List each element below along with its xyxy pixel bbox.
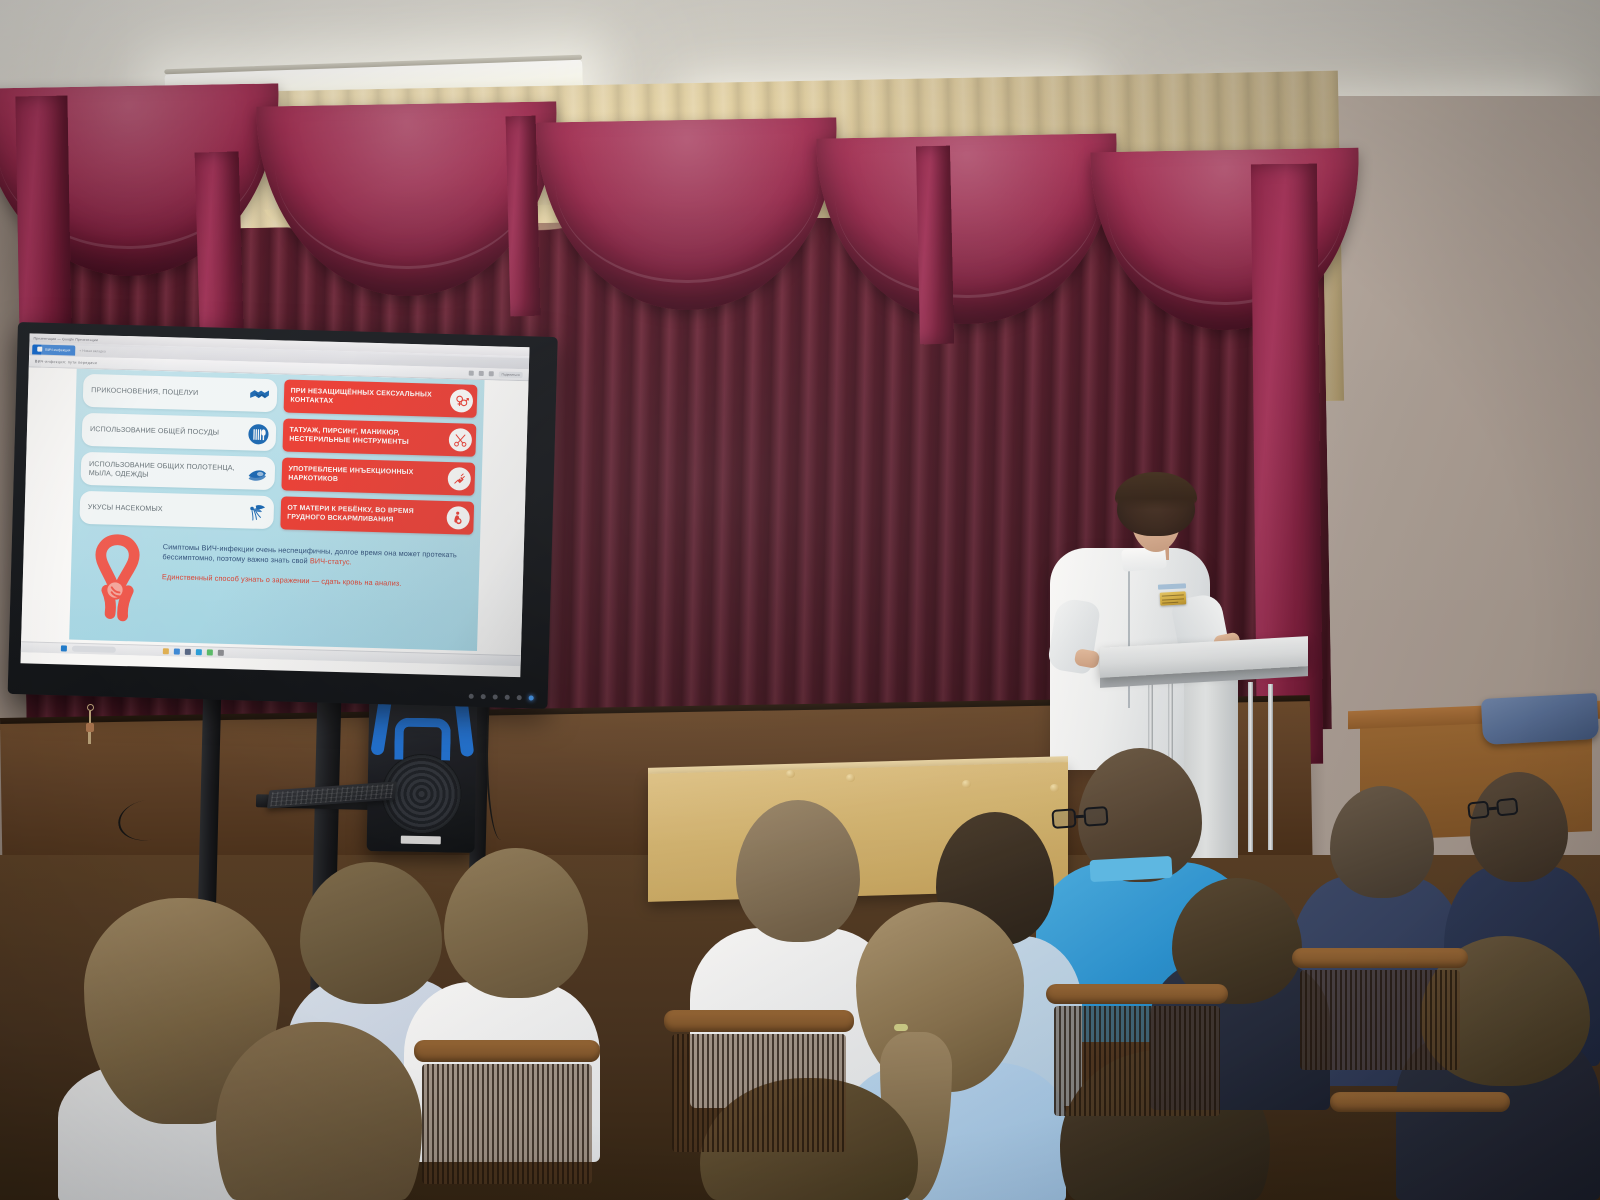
taskbar-search-box[interactable] xyxy=(72,646,116,653)
chair-backrest xyxy=(1046,984,1228,1004)
safe-card-insects-label: УКУСЫ НАСЕКОМЫХ xyxy=(88,503,163,514)
eyeglasses xyxy=(1051,806,1108,830)
risk-card-drugs-label: УПОТРЕБЛЕНИЕ ИНЪЕКЦИОННЫХ НАРКОТИКОВ xyxy=(288,465,444,487)
tv-led-2 xyxy=(481,694,486,699)
auditorium-scene: Презентация — Google Презентации ВИЧ-инф… xyxy=(0,0,1600,1200)
chair-backrest xyxy=(1292,948,1468,968)
safe-card-touch-label: ПРИКОСНОВЕНИЯ, ПОЦЕЛУИ xyxy=(91,386,198,398)
tv-led-5 xyxy=(517,695,522,700)
handshake-icon xyxy=(247,383,271,407)
gender-symbols-icon xyxy=(450,389,474,413)
safe-card-dishes-label: ИСПОЛЬЗОВАНИЕ ОБЩЕЙ ПОСУДЫ xyxy=(90,425,219,437)
safe-card-insects: УКУСЫ НАСЕКОМЫХ xyxy=(79,491,273,529)
tab-label: ВИЧ-инфекция xyxy=(45,347,70,352)
chair-mesh-panel xyxy=(1054,1006,1220,1116)
slide-content: ПРИКОСНОВЕНИЯ, ПОЦЕЛУИ ИСПОЛЬЗОВАНИЕ ОБ xyxy=(69,369,484,651)
safe-card-dishes: ИСПОЛЬЗОВАНИЕ ОБЩЕЙ ПОСУДЫ xyxy=(82,413,276,451)
chair-backrest xyxy=(664,1010,854,1032)
risk-column: ПРИ НЕЗАЩИЩЁННЫХ СЕКСУАЛЬНЫХ КОНТАКТАХ xyxy=(280,379,478,534)
footer-paragraph-1: Симптомы ВИЧ-инфекции очень неспецифичны… xyxy=(162,542,472,571)
audience-chair-2[interactable] xyxy=(664,1010,854,1160)
cabinet-knob-4 xyxy=(1050,784,1059,792)
mail-icon[interactable] xyxy=(174,648,180,654)
footer-highlight: ВИЧ-статус. xyxy=(310,557,352,567)
safe-card-towels: ИСПОЛЬЗОВАНИЕ ОБЩИХ ПОЛОТЕНЦА, МЫЛА, ОДЕ… xyxy=(80,452,274,490)
browser-title-text: Презентация — Google Презентации xyxy=(34,336,99,342)
chrome-icon[interactable] xyxy=(207,649,213,655)
risk-card-mother-child: ОТ МАТЕРИ К РЕБЁНКУ, ВО ВРЕМЯ ГРУДНОГО В… xyxy=(280,496,474,534)
slide-footer: Симптомы ВИЧ-инфекции очень неспецифичны… xyxy=(77,524,474,638)
lectern-leg-3 xyxy=(1248,682,1253,852)
risk-card-drugs: УПОТРЕБЛЕНИЕ ИНЪЕКЦИОННЫХ НАРКОТИКОВ xyxy=(281,457,475,495)
footer-paragraph-2: Единственный способ узнать о заражении —… xyxy=(162,572,472,591)
mosquito-icon xyxy=(244,500,268,524)
curtain-drape-mid-2 xyxy=(506,116,541,317)
share-button[interactable]: Поделиться xyxy=(498,371,522,378)
risk-card-sex: ПРИ НЕЗАЩИЩЁННЫХ СЕКСУАЛЬНЫХ КОНТАКТАХ xyxy=(283,379,477,417)
footer-text-block: Симптомы ВИЧ-инфекции очень неспецифичны… xyxy=(162,535,473,591)
audience-chair-4[interactable] xyxy=(1292,948,1468,1078)
chair-mesh-panel xyxy=(672,1034,846,1152)
hanging-decoration xyxy=(84,704,96,748)
windows-start-icon[interactable] xyxy=(61,645,67,651)
present-icon[interactable] xyxy=(488,371,493,376)
pregnant-woman-icon xyxy=(446,506,470,530)
lectern-leg-4 xyxy=(1268,684,1273,850)
risk-card-piercing-label: ТАТУАЖ, ПИРСИНГ, МАНИКЮР, НЕСТЕРИЛЬНЫЕ И… xyxy=(289,426,445,448)
hair-tie xyxy=(894,1024,908,1031)
scissors-icon xyxy=(449,428,473,452)
polo-collar xyxy=(1089,856,1172,882)
tab-favicon-icon xyxy=(37,347,42,352)
presenter-name-badge xyxy=(1160,591,1187,605)
curtain-drape-mid-3 xyxy=(916,146,954,345)
cutlery-icon xyxy=(246,422,270,446)
draped-jacket xyxy=(1481,693,1599,745)
audience-chair-1[interactable] xyxy=(414,1040,600,1190)
audience-chair-5[interactable] xyxy=(1330,1092,1510,1200)
tv-screen[interactable]: Презентация — Google Презентации ВИЧ-инф… xyxy=(20,333,529,677)
tv-led-3 xyxy=(493,694,498,699)
presentation-slide: ПРИКОСНОВЕНИЯ, ПОЦЕЛУИ ИСПОЛЬЗОВАНИЕ ОБ xyxy=(21,367,529,666)
risk-card-sex-label: ПРИ НЕЗАЩИЩЁННЫХ СЕКСУАЛЬНЫХ КОНТАКТАХ xyxy=(290,387,446,409)
media-icon[interactable] xyxy=(218,650,224,656)
audience-chair-3[interactable] xyxy=(1046,984,1228,1124)
safe-card-touch: ПРИКОСНОВЕНИЯ, ПОЦЕЛУИ xyxy=(83,374,277,412)
red-awareness-ribbon-icon xyxy=(77,533,158,629)
comment-icon[interactable] xyxy=(478,371,483,376)
chair-mesh-panel xyxy=(1300,970,1460,1070)
tv-led-4 xyxy=(505,694,510,699)
speaker-brand-plate xyxy=(401,836,441,845)
syringe-icon xyxy=(447,467,471,491)
tv-led-1 xyxy=(469,693,474,698)
transmission-cards-grid: ПРИКОСНОВЕНИЯ, ПОЦЕЛУИ ИСПОЛЬЗОВАНИЕ ОБ xyxy=(79,372,477,535)
edge-icon[interactable] xyxy=(196,649,202,655)
chair-backrest xyxy=(1330,1092,1510,1112)
store-icon[interactable] xyxy=(185,649,191,655)
chair-mesh-panel xyxy=(422,1064,592,1184)
chair-backrest xyxy=(414,1040,600,1062)
new-tab-button[interactable]: + Новая вкладка xyxy=(79,348,105,353)
pa-speaker xyxy=(367,689,478,853)
cabinet-knob-2 xyxy=(846,774,855,782)
risk-card-piercing: ТАТУАЖ, ПИРСИНГ, МАНИКЮР, НЕСТЕРИЛЬНЫЕ И… xyxy=(282,418,476,456)
folded-towels-icon xyxy=(245,461,269,485)
cabinet-knob-3 xyxy=(962,780,971,788)
tv-power-led xyxy=(529,695,534,700)
safe-card-towels-label: ИСПОЛЬЗОВАНИЕ ОБЩИХ ПОЛОТЕНЦА, МЫЛА, ОДЕ… xyxy=(89,460,242,482)
risk-card-mother-child-label: ОТ МАТЕРИ К РЕБЁНКУ, ВО ВРЕМЯ ГРУДНОГО В… xyxy=(287,504,443,526)
file-explorer-icon[interactable] xyxy=(163,648,169,654)
cabinet-knob-1 xyxy=(786,770,795,778)
browser-tab-active[interactable]: ВИЧ-инфекция xyxy=(32,344,75,355)
flat-panel-display[interactable]: Презентация — Google Презентации ВИЧ-инф… xyxy=(8,322,558,709)
taskbar-app-icons xyxy=(163,648,224,656)
speaker-carry-handle xyxy=(394,718,451,761)
search-icon[interactable] xyxy=(468,371,473,376)
safe-column: ПРИКОСНОВЕНИЯ, ПОЦЕЛУИ ИСПОЛЬЗОВАНИЕ ОБ xyxy=(79,374,277,529)
